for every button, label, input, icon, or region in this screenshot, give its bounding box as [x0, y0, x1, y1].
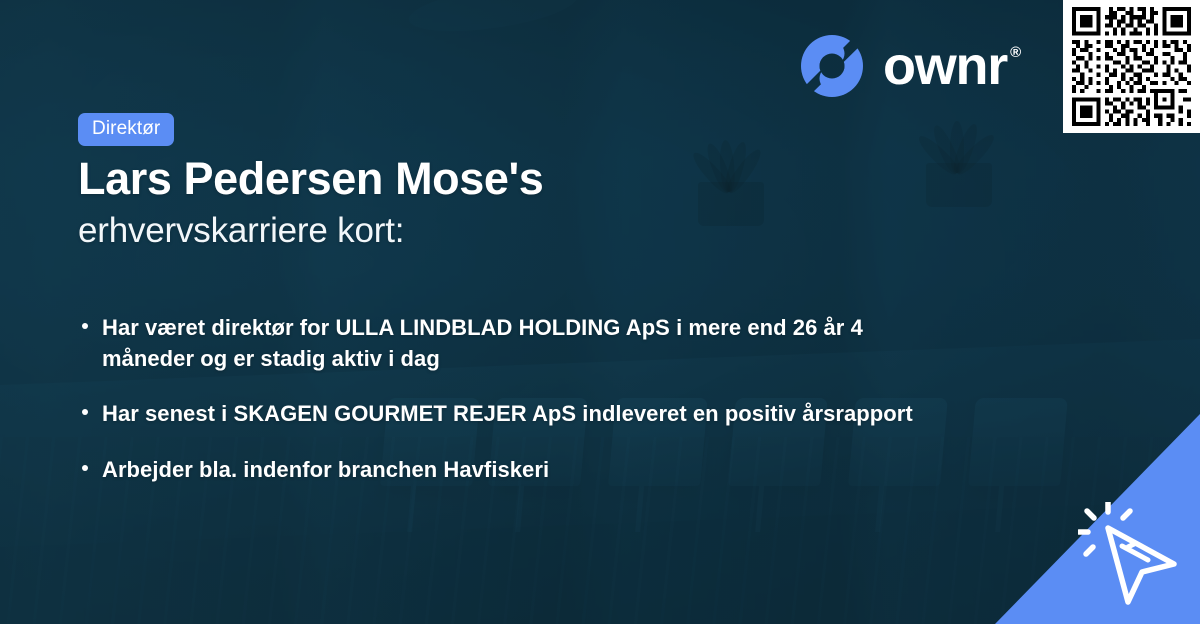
role-badge: Direktør [78, 113, 174, 146]
page-subtitle: erhvervskarriere kort: [78, 212, 404, 251]
career-highlights-list: Har været direktør for ULLA LINDBLAD HOL… [78, 312, 958, 509]
ownr-logo[interactable]: ownr ® [799, 33, 1020, 99]
registered-trademark-icon: ® [1010, 46, 1020, 61]
page-title: Lars Pedersen Mose's [78, 156, 543, 203]
ownr-swirl-logo-icon [799, 33, 865, 99]
card-content: Direktør Lars Pedersen Mose's erhvervska… [0, 0, 1200, 624]
qr-code-panel[interactable] [1063, 0, 1200, 133]
click-cursor-icon [1078, 502, 1186, 608]
list-item: Har været direktør for ULLA LINDBLAD HOL… [78, 312, 958, 374]
list-item: Arbejder bla. indenfor branchen Havfiske… [78, 454, 958, 485]
qr-code-icon [1072, 7, 1191, 126]
list-item: Har senest i SKAGEN GOURMET REJER ApS in… [78, 398, 958, 429]
business-card-banner: Direktør Lars Pedersen Mose's erhvervska… [0, 0, 1200, 624]
ownr-wordmark: ownr ® [883, 40, 1020, 93]
ownr-wordmark-text: ownr [883, 40, 1007, 93]
